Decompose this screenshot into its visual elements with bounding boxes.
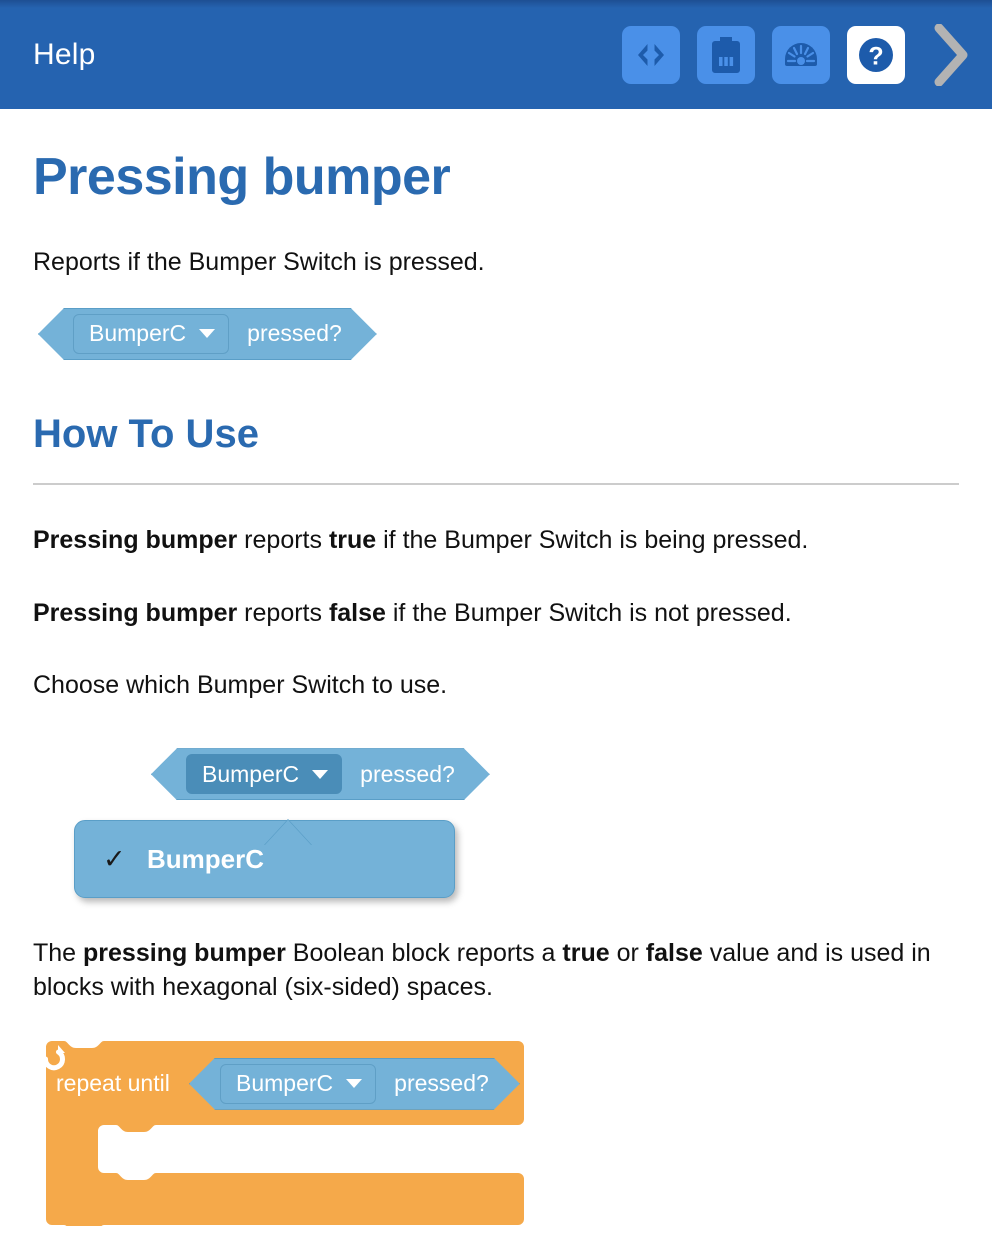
sensor-gauge-icon (782, 40, 820, 70)
paragraph-false-case: Pressing bumper reports false if the Bum… (33, 597, 959, 631)
help-icon: ? (856, 35, 896, 75)
control-block-repeat-until[interactable]: repeat until BumperC pressed? (38, 1041, 528, 1226)
bumper-port-dropdown-open[interactable]: BumperC (186, 754, 342, 794)
help-article: Pressing bumper Reports if the Bumper Sw… (0, 149, 992, 1246)
p4-bold-1: pressing bumper (83, 939, 286, 967)
p2-bold-2: false (329, 599, 386, 627)
p2-tail: if the Bumper Switch is not pressed. (386, 599, 792, 627)
boolean-block-pressing-bumper-open[interactable]: BumperC pressed? (151, 748, 490, 800)
chevron-right-icon (930, 24, 970, 86)
page-header-title: Help (33, 40, 96, 70)
repeat-until-label: repeat until (56, 1070, 170, 1097)
battery-icon-button[interactable] (697, 26, 755, 84)
bumper-port-dropdown-loop[interactable]: BumperC (220, 1064, 376, 1104)
dropdown-menu-item-bumperc[interactable]: BumperC (147, 844, 264, 875)
page-summary: Reports if the Bumper Switch is pressed. (33, 246, 959, 280)
p4-bold-2: true (562, 939, 609, 967)
p2-bold-1: Pressing bumper (33, 599, 237, 627)
paragraph-choose-switch: Choose which Bumper Switch to use. (33, 669, 959, 703)
sensor-gauge-icon-button[interactable] (772, 26, 830, 84)
boolean-block-pressing-bumper-in-loop[interactable]: BumperC pressed? (189, 1058, 520, 1110)
paragraph-true-case: Pressing bumper reports true if the Bump… (33, 524, 959, 558)
dropdown-menu-pointer (264, 820, 312, 846)
battery-icon (711, 37, 741, 73)
p4-lead: The (33, 939, 83, 967)
bumper-port-value-loop: BumperC (236, 1070, 333, 1097)
chevron-down-icon (312, 770, 328, 779)
p1-mid-1: reports (237, 526, 329, 554)
block-suffix-label: pressed? (247, 320, 342, 347)
p4-mid-1: Boolean block reports a (286, 939, 563, 967)
p4-mid-2: or (610, 939, 646, 967)
section-title-how-to-use: How To Use (33, 412, 959, 456)
app-header: Help (0, 0, 992, 109)
help-icon-button[interactable]: ? (847, 26, 905, 84)
header-actions: ? (622, 24, 974, 86)
code-icon (634, 41, 668, 69)
repeat-until-condition-slot: BumperC pressed? (189, 1058, 520, 1110)
next-chevron-button[interactable] (926, 24, 974, 86)
p1-bold-1: Pressing bumper (33, 526, 237, 554)
block-dropdown-example: BumperC pressed? (151, 748, 959, 800)
section-divider (33, 483, 959, 485)
boolean-block-pressing-bumper[interactable]: BumperC pressed? (38, 308, 377, 360)
p4-bold-3: false (646, 939, 703, 967)
chevron-down-icon (346, 1079, 362, 1088)
page-title: Pressing bumper (33, 149, 959, 206)
dropdown-menu-container: ✓ BumperC (74, 820, 959, 898)
paragraph-boolean-explanation: The pressing bumper Boolean block report… (33, 937, 959, 1005)
code-icon-button[interactable] (622, 26, 680, 84)
svg-text:?: ? (868, 42, 883, 70)
loop-arrow-icon (38, 1041, 68, 1071)
p2-mid-1: reports (237, 599, 329, 627)
chevron-down-icon (199, 329, 215, 338)
block-pressing-bumper-preview: BumperC pressed? (38, 308, 959, 360)
bumper-port-value: BumperC (89, 320, 186, 347)
p1-tail: if the Bumper Switch is being pressed. (376, 526, 808, 554)
p1-bold-2: true (329, 526, 376, 554)
block-suffix-label-loop: pressed? (394, 1070, 489, 1097)
block-suffix-label-open: pressed? (360, 761, 455, 788)
bumper-port-dropdown[interactable]: BumperC (73, 314, 229, 354)
bumper-port-value-open: BumperC (202, 761, 299, 788)
checkmark-icon: ✓ (103, 846, 147, 873)
